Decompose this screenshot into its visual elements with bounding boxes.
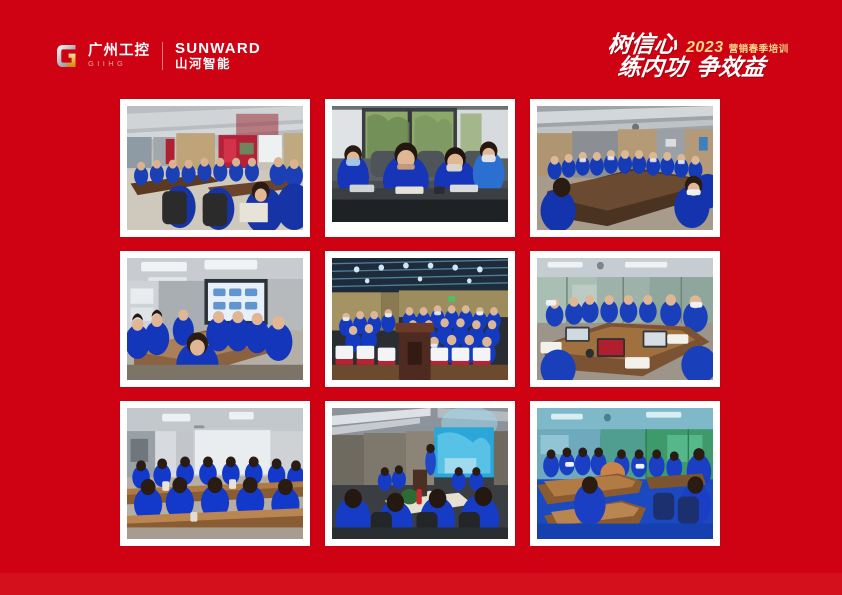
photo-8 [332,408,508,539]
brand-primary-cn: 广州工控 [88,44,150,59]
photo-1 [127,106,303,230]
photo-frame[interactable] [530,99,720,237]
brand-secondary-text: SUNWARD 山河智能 [175,42,261,70]
photo-frame[interactable] [530,401,720,546]
giihg-g-logo-icon [55,43,81,69]
brand-secondary-en: SUNWARD [175,41,261,57]
poster-header: 广州工控 GIIHG SUNWARD 山河智能 树信心 2023 营销春季培训 … [0,0,842,92]
photo-gallery-grid [120,99,720,546]
brand-primary-en: GIIHG [88,59,150,69]
photo-frame[interactable] [325,251,515,387]
photo-9 [537,408,713,539]
slogan-line2-main: 练内功 [617,55,689,79]
bottom-accent-band [0,573,842,595]
photo-7 [127,408,303,539]
photo-2 [332,106,508,222]
brand-lockup: 广州工控 GIIHG SUNWARD 山河智能 [55,39,261,73]
photo-frame[interactable] [530,251,720,387]
poster-page: 广州工控 GIIHG SUNWARD 山河智能 树信心 2023 营销春季培训 … [0,0,842,595]
photo-frame[interactable] [120,99,310,237]
photo-6 [537,258,713,380]
slogan-line-1: 树信心 2023 营销春季培训 [608,32,789,56]
photo-frame[interactable] [325,99,515,237]
photo-5 [332,258,508,380]
brand-divider [162,42,163,70]
photo-frame[interactable] [120,251,310,387]
slogan-line2-second: 争效益 [695,55,767,79]
brand-primary-text: 广州工控 GIIHG [88,42,150,70]
campaign-slogan: 树信心 2023 营销春季培训 练内功 争效益 [608,32,798,82]
photo-3 [537,106,713,230]
slogan-line-2: 练内功 争效益 [618,55,765,79]
slogan-line1-main: 树信心 [607,32,679,56]
photo-4 [127,258,303,380]
brand-secondary-cn: 山河智能 [175,57,261,71]
photo-frame[interactable] [120,401,310,546]
photo-frame[interactable] [325,401,515,546]
